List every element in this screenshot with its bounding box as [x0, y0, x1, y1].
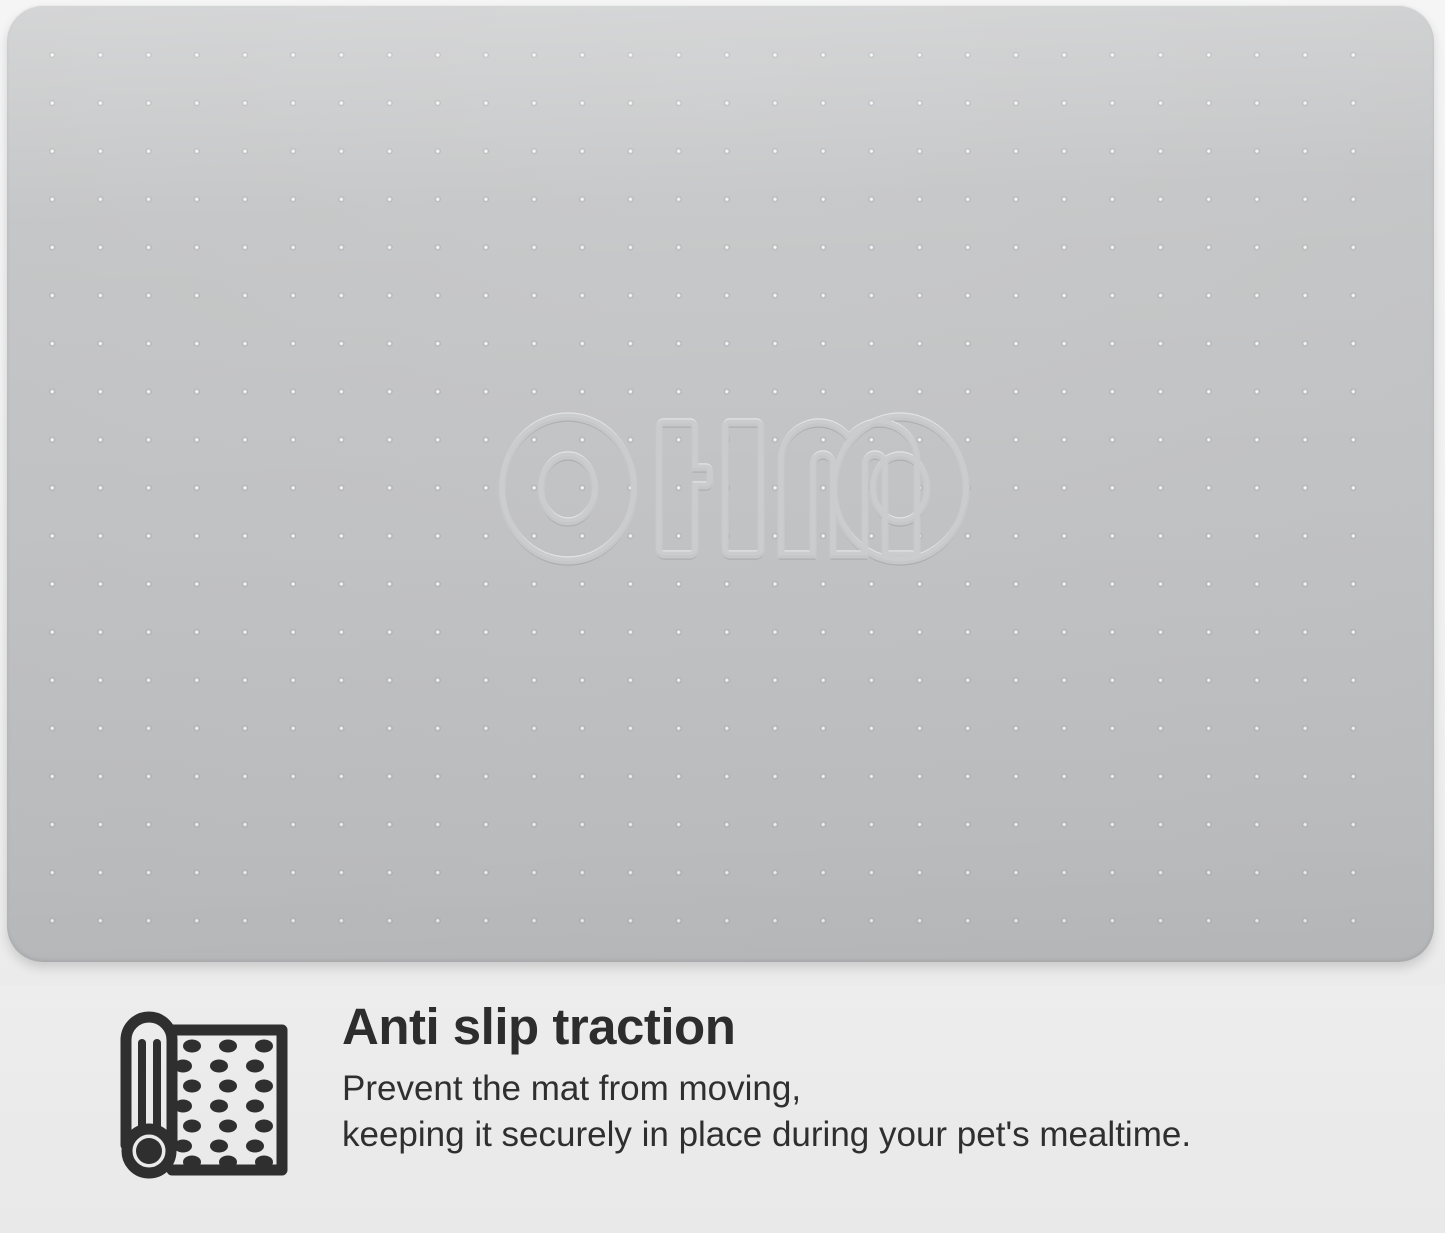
feature-text-block: Anti slip traction Prevent the mat from …	[342, 997, 1445, 1158]
rolled-dotted-mat-icon	[112, 999, 312, 1189]
embossed-brand-logo	[496, 409, 971, 569]
feature-description-line-1: Prevent the mat from moving,	[342, 1066, 1445, 1112]
feature-callout: Anti slip traction Prevent the mat from …	[0, 985, 1445, 1233]
product-photo	[0, 0, 1445, 985]
silicone-pet-mat	[7, 5, 1434, 962]
mat-surface-sheen	[7, 5, 1434, 962]
feature-title: Anti slip traction	[342, 997, 1445, 1057]
product-feature-image: Anti slip traction Prevent the mat from …	[0, 0, 1445, 1233]
feature-description: Prevent the mat from moving, keeping it …	[342, 1066, 1445, 1158]
anti-slip-dot-texture	[49, 52, 1394, 930]
feature-description-line-2: keeping it securely in place during your…	[342, 1112, 1445, 1158]
